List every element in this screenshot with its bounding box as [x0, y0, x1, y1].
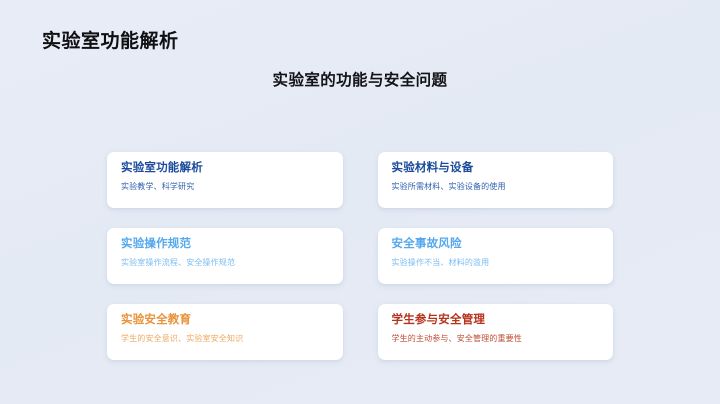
- feature-card-1-description: 实验教学、科学研究: [121, 181, 329, 192]
- feature-card-1-title: 实验室功能解析: [121, 161, 329, 177]
- feature-card-5-title: 实验安全教育: [121, 313, 329, 329]
- feature-card-3-title: 实验操作规范: [121, 237, 329, 253]
- feature-card-2-title: 实验材料与设备: [392, 161, 600, 177]
- feature-card-5[interactable]: 实验安全教育 学生的安全意识、实验室安全知识: [107, 304, 343, 360]
- feature-card-4-description: 实验操作不当、材料的滥用: [392, 257, 600, 268]
- page-title: 实验室功能解析: [42, 26, 179, 53]
- feature-card-6-description: 学生的主动参与、安全管理的重要性: [392, 333, 600, 344]
- feature-card-2-description: 实验所需材料、实验设备的使用: [392, 181, 600, 192]
- feature-card-5-description: 学生的安全意识、实验室安全知识: [121, 333, 329, 344]
- feature-card-3-description: 实验室操作流程、安全操作规范: [121, 257, 329, 268]
- slide-subtitle: 实验室的功能与安全问题: [0, 68, 720, 90]
- feature-card-6-title: 学生参与安全管理: [392, 313, 600, 329]
- feature-card-3[interactable]: 实验操作规范 实验室操作流程、安全操作规范: [107, 228, 343, 284]
- feature-card-2[interactable]: 实验材料与设备 实验所需材料、实验设备的使用: [378, 152, 614, 208]
- feature-card-4[interactable]: 安全事故风险 实验操作不当、材料的滥用: [378, 228, 614, 284]
- feature-card-1[interactable]: 实验室功能解析 实验教学、科学研究: [107, 152, 343, 208]
- feature-card-grid: 实验室功能解析 实验教学、科学研究 实验材料与设备 实验所需材料、实验设备的使用…: [107, 152, 613, 360]
- feature-card-6[interactable]: 学生参与安全管理 学生的主动参与、安全管理的重要性: [378, 304, 614, 360]
- feature-card-4-title: 安全事故风险: [392, 237, 600, 253]
- slide-canvas: 实验室功能解析 实验室的功能与安全问题 实验室功能解析 实验教学、科学研究 实验…: [0, 0, 720, 404]
